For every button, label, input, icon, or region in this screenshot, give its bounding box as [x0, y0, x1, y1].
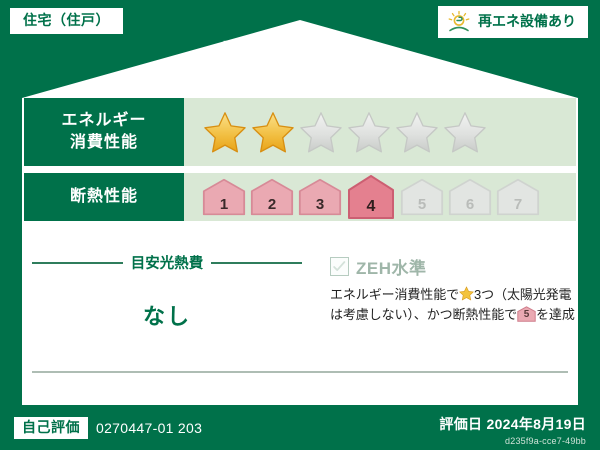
insulation-level-badge-filled: 1	[202, 178, 246, 216]
zeh-description: エネルギー消費性能で 3つ（太陽光発電 は考慮しない）、かつ断熱性能で 5 を達…	[330, 285, 576, 325]
insulation-level-number: 5	[400, 196, 444, 213]
insulation-performance-label: 断熱性能	[24, 173, 184, 221]
renewable-equipment-badge: 再エネ設備あり	[438, 6, 588, 38]
star-empty-icon	[346, 110, 392, 154]
footer-right-group: 評価日 2024年8月19日 d235f9a-cce7-49bb	[439, 414, 586, 446]
energy-star-rating	[184, 98, 576, 166]
evaluation-date: 評価日 2024年8月19日	[439, 414, 586, 434]
zeh-desc-part1: エネルギー消費性能で	[330, 287, 459, 302]
insulation-level-badge-empty: 5	[400, 178, 444, 216]
insulation-level-scale: 1234567	[184, 173, 576, 221]
insulation-performance-row: 断熱性能 1234567	[24, 173, 576, 221]
self-evaluation-badge: 自己評価	[14, 417, 88, 439]
building-type-label: 住宅（住戸）	[23, 12, 110, 28]
label-footer: 自己評価 0270447-01 203 評価日 2024年8月19日 d235f…	[0, 406, 600, 450]
insulation-level-number: 7	[496, 196, 540, 213]
insulation-level-number: 1	[202, 196, 246, 213]
heading-rule-left	[32, 262, 123, 264]
footer-left-group: 自己評価 0270447-01 203	[14, 417, 202, 439]
lower-section: 目安光熱費 なし ZEH水準 エネルギー消費性能で 3つ（太陽光発電	[24, 248, 576, 380]
star-empty-icon	[442, 110, 488, 154]
certificate-number: 0270447-01 203	[96, 420, 202, 436]
inline-house-level-number: 5	[517, 307, 536, 323]
estimated-cost-value: なし	[24, 299, 310, 331]
energy-label-line1: エネルギー	[61, 110, 146, 132]
inline-house-level-badge: 5	[517, 306, 536, 322]
estimated-cost-heading: 目安光熱費	[24, 252, 310, 273]
star-filled-icon	[202, 110, 248, 154]
zeh-desc-part4: を達成	[536, 307, 575, 322]
zeh-desc-part2: 3つ（太陽光発電	[474, 287, 571, 302]
energy-label-line2: 消費性能	[70, 132, 138, 154]
insulation-label-text: 断熱性能	[70, 186, 138, 208]
estimated-cost-section: 目安光熱費 なし	[24, 248, 310, 380]
checkbox-unchecked-icon	[330, 257, 349, 276]
energy-consumption-label: エネルギー 消費性能	[24, 98, 184, 166]
star-empty-icon	[394, 110, 440, 154]
evaluation-id: d235f9a-cce7-49bb	[439, 436, 586, 446]
building-type-badge: 住宅（住戸）	[10, 8, 123, 34]
star-icon	[459, 286, 474, 301]
heading-rule-right	[211, 262, 302, 264]
renewable-equipment-label: 再エネ設備あり	[478, 14, 576, 29]
zeh-desc-part3: は考慮しない）、かつ断熱性能で	[330, 307, 517, 322]
insulation-level-badge-current: 4	[347, 174, 395, 220]
solar-sun-icon	[446, 10, 472, 34]
zeh-title: ZEH水準	[356, 254, 427, 279]
star-filled-icon	[250, 110, 296, 154]
insulation-level-number: 3	[298, 196, 342, 213]
zeh-section: ZEH水準 エネルギー消費性能で 3つ（太陽光発電 は考慮しない）、かつ断熱性能…	[310, 248, 576, 380]
insulation-level-number: 2	[250, 196, 294, 213]
zeh-heading: ZEH水準	[330, 254, 576, 279]
section-divider	[32, 371, 568, 373]
rating-rows: エネルギー 消費性能 断熱性能 1234567	[24, 98, 576, 228]
energy-performance-label: 住宅（住戸） 再エネ設備あり 建築物省エネ法に基づく 省エネ性能ラベル	[0, 0, 600, 450]
energy-consumption-row: エネルギー 消費性能	[24, 98, 576, 166]
insulation-level-badge-empty: 6	[448, 178, 492, 216]
estimated-cost-title: 目安光熱費	[131, 252, 204, 273]
star-empty-icon	[298, 110, 344, 154]
insulation-level-number: 4	[347, 198, 395, 216]
insulation-level-badge-filled: 2	[250, 178, 294, 216]
insulation-level-badge-empty: 7	[496, 178, 540, 216]
insulation-level-number: 6	[448, 196, 492, 213]
insulation-level-badge-filled: 3	[298, 178, 342, 216]
